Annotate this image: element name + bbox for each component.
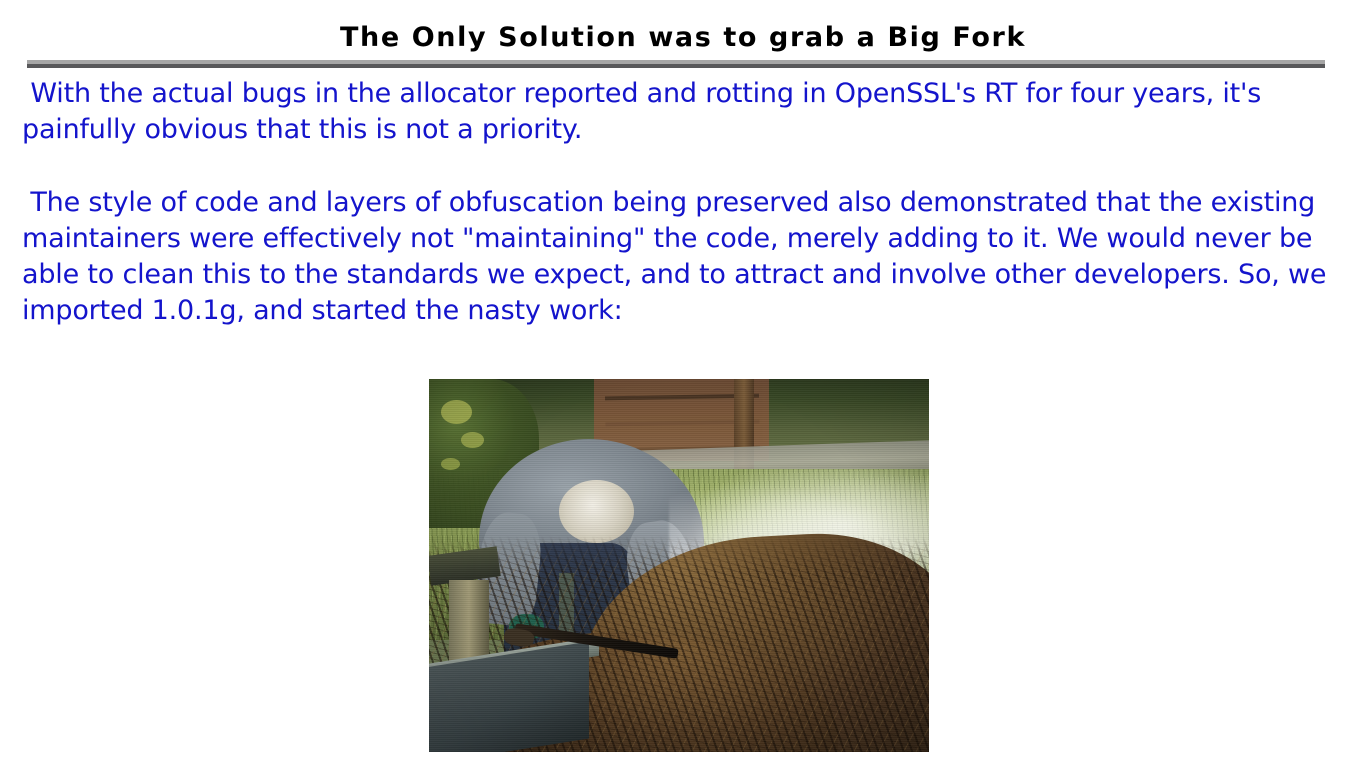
body-paragraph-2: The style of code and layers of obfuscat… [22, 185, 1342, 329]
slide-body: With the actual bugs in the allocator re… [22, 76, 1342, 329]
page-title: The Only Solution was to grab a Big Fork [0, 22, 1366, 54]
divider-shadow-band [27, 64, 1325, 68]
photo-canvas [429, 379, 929, 752]
body-paragraph-1: With the actual bugs in the allocator re… [22, 76, 1342, 148]
photo-person-head [559, 480, 634, 543]
title-divider [27, 60, 1325, 68]
paragraph-spacer [22, 148, 1342, 185]
compost-fork-photo [429, 379, 929, 752]
